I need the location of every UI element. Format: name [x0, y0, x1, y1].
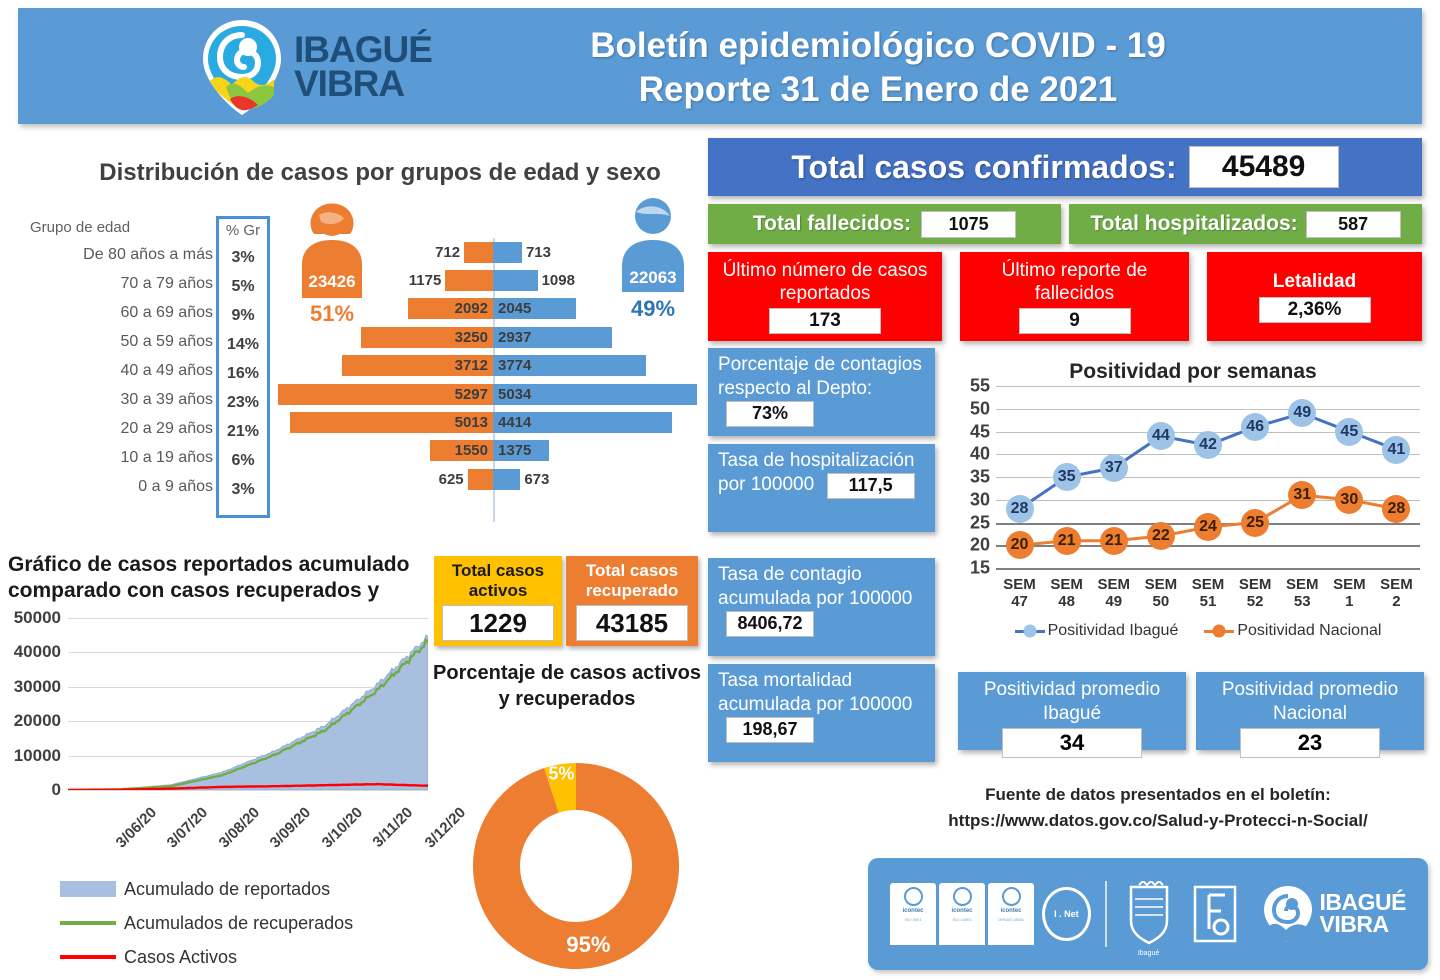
x-axis-tick: SEM51	[1192, 576, 1225, 611]
inet-seal-icon: I . Net	[1042, 887, 1091, 941]
department-contagion-pct-value: 73%	[726, 401, 814, 427]
age-group-percent: 3%	[219, 243, 267, 272]
legend-item: Positividad Nacional	[1204, 622, 1381, 640]
cumulative-series	[68, 618, 428, 790]
y-axis-tick: 30000	[14, 677, 68, 697]
data-point: 44	[1147, 422, 1175, 450]
data-point: 35	[1053, 463, 1081, 491]
female-bar: 3712	[342, 355, 493, 376]
total-deaths-label: Total fallecidos:	[753, 212, 911, 236]
data-point: 25	[1241, 509, 1269, 537]
last-reported-cases-value: 173	[769, 308, 881, 334]
female-bar-value: 5013	[450, 414, 493, 431]
male-bar: 5034	[493, 384, 697, 405]
cumulative-contagion-rate-box: Tasa de contagio acumulada por 100000 84…	[708, 558, 935, 656]
total-active-cases-box: Total casos activos 1229	[434, 556, 562, 646]
donut-slice-label: 5%	[548, 763, 574, 784]
data-point: 37	[1100, 454, 1128, 482]
legend-item: Acumulado de reportados	[60, 872, 440, 906]
total-recovered-cases-box: Total casos recuperado 43185	[566, 556, 698, 646]
y-axis-tick: 20000	[14, 711, 68, 731]
title-line-2: Reporte 31 de Enero de 2021	[488, 68, 1268, 112]
last-reported-cases-label: Último número de casos reportados	[714, 259, 936, 305]
footer-logo-bar: icontecISO 9001icontecISO 14001icontecOH…	[868, 858, 1428, 970]
active-recovered-donut-chart: 95%5%	[466, 760, 688, 972]
age-group-percent: 9%	[219, 301, 267, 330]
male-bar-value: 5034	[493, 386, 536, 403]
male-bar: 713	[493, 242, 522, 263]
pyramid-row: 11751098	[276, 266, 710, 294]
data-point: 31	[1288, 481, 1316, 509]
female-bar-value: 1175	[409, 272, 446, 289]
department-contagion-pct-label: Porcentaje de contagios respecto al Dept…	[718, 354, 922, 399]
pyramid-row: 15501375	[276, 437, 710, 465]
positivity-x-axis: SEM47SEM48SEM49SEM50SEM51SEM52SEM53SEM1S…	[996, 576, 1420, 618]
total-active-cases-label: Total casos activos	[438, 561, 558, 602]
age-group-percent: 14%	[219, 330, 267, 359]
certification-body-name: icontec	[902, 908, 923, 914]
age-group-percent: 23%	[219, 388, 267, 417]
gridline	[68, 790, 428, 791]
age-group-label: De 80 años a más	[30, 240, 215, 269]
data-point: 28	[1382, 495, 1410, 523]
age-group-percent: 5%	[219, 272, 267, 301]
total-recovered-cases-value: 43185	[576, 605, 688, 641]
total-confirmed-value: 45489	[1189, 146, 1339, 188]
cumulative-plot-area: 50000400003000020000100000	[68, 618, 428, 790]
positivity-chart-title: Positividad por semanas	[958, 360, 1428, 384]
total-deaths-box: Total fallecidos: 1075	[708, 204, 1061, 244]
x-axis-tick: SEM53	[1286, 576, 1319, 611]
x-axis-tick: 3/12/20	[421, 804, 468, 851]
hospitalization-rate-box: Tasa de hospitalización por 100000 117,5	[708, 444, 935, 532]
legend-item: Casos Activos	[60, 940, 440, 974]
x-axis-tick: SEM48	[1050, 576, 1083, 611]
certification-card: icontecISO 14001	[939, 883, 985, 945]
last-reported-deaths-label: Último reporte de fallecidos	[966, 259, 1183, 305]
y-axis-tick: 25	[970, 512, 996, 533]
x-axis-tick: 3/11/20	[370, 804, 417, 851]
female-bar-value: 712	[435, 244, 464, 261]
positivity-chart-legend: Positividad IbaguéPositividad Nacional	[978, 622, 1418, 640]
pyramid-row: 50134414	[276, 408, 710, 436]
male-bar-value: 673	[520, 471, 549, 488]
ibague-vibra-pin-icon	[196, 17, 288, 117]
data-point: 45	[1335, 418, 1363, 446]
page-header: IBAGUÉ VIBRA Boletín epidemiológico COVI…	[18, 8, 1422, 124]
female-bar: 1550	[430, 440, 493, 461]
male-bar-value: 713	[522, 244, 551, 261]
positivity-plot-area: 1520253035404550552835374442464945412021…	[996, 386, 1420, 568]
female-bar: 1175	[445, 270, 493, 291]
male-bar: 4414	[493, 412, 672, 433]
age-group-percent: 16%	[219, 359, 267, 388]
avg-positivity-national-value: 23	[1240, 728, 1380, 758]
male-bar: 2937	[493, 327, 612, 348]
legend-item: Acumulados de recuperados	[60, 906, 440, 940]
cumulative-chart-legend: Acumulado de reportadosAcumulados de rec…	[60, 872, 440, 974]
y-axis-tick: 40000	[14, 642, 68, 662]
pyramid-chart-title: Distribución de casos por grupos de edad…	[60, 158, 700, 188]
brand-logo: IBAGUÉ VIBRA	[196, 12, 486, 122]
male-bar: 1098	[493, 270, 538, 291]
certification-card: icontecOHSAS 18001	[988, 883, 1034, 945]
avg-positivity-national-label: Positividad promedio Nacional	[1206, 678, 1414, 726]
male-bar-value: 1375	[493, 442, 536, 459]
page-title: Boletín epidemiológico COVID - 19 Report…	[488, 24, 1268, 112]
footer-brand-text: IBAGUÉ VIBRA	[1320, 892, 1406, 936]
cumulative-contagion-rate-value: 8406,72	[726, 611, 814, 637]
total-recovered-cases-label: Total casos recuperado	[570, 561, 694, 602]
gridline	[996, 568, 1420, 570]
cumulative-x-axis: 3/06/203/07/203/08/203/09/203/10/203/11/…	[68, 800, 428, 880]
certification-body-name: icontec	[1000, 908, 1021, 914]
percent-header: % Gr	[219, 219, 267, 243]
legend-swatch	[1204, 630, 1234, 633]
female-bar-value: 2092	[450, 300, 493, 317]
x-axis-tick: SEM47	[1003, 576, 1036, 611]
avg-positivity-national-box: Positividad promedio Nacional 23	[1196, 672, 1424, 750]
legend-swatch	[60, 955, 116, 959]
legend-label: Casos Activos	[124, 947, 237, 968]
age-group-percent: 3%	[219, 475, 267, 504]
footer-brand-logo: IBAGUÉ VIBRA	[1261, 884, 1406, 944]
cumulative-chart-title: Gráfico de casos reportados acumulado co…	[8, 552, 428, 605]
y-axis-tick: 45	[970, 421, 996, 442]
last-reported-deaths-box: Último reporte de fallecidos 9	[960, 252, 1189, 341]
certification-body-name: icontec	[951, 908, 972, 914]
female-bar-value: 3712	[450, 357, 493, 374]
donut-chart-title: Porcentaje de casos activos y recuperado…	[432, 660, 702, 712]
pyramid-row: 20922045	[276, 295, 710, 323]
legend-swatch	[60, 921, 116, 925]
donut-slice-label: 95%	[566, 932, 610, 958]
certification-seal-icon	[1002, 887, 1021, 906]
x-axis-tick: 3/10/20	[318, 804, 365, 851]
female-bar: 5297	[278, 384, 493, 405]
data-point: 46	[1241, 413, 1269, 441]
source-line-2[interactable]: https://www.datos.gov.co/Salud-y-Protecc…	[880, 808, 1436, 834]
male-bar: 1375	[493, 440, 549, 461]
legend-label: Positividad Ibagué	[1048, 622, 1179, 640]
legend-swatch	[1015, 630, 1045, 633]
title-line-1: Boletín epidemiológico COVID - 19	[488, 24, 1268, 68]
certification-seal-icon	[953, 887, 972, 906]
male-bar: 673	[493, 469, 520, 490]
total-deaths-value: 1075	[921, 211, 1016, 238]
x-axis-tick: SEM52	[1239, 576, 1272, 611]
male-bar-value: 4414	[493, 414, 536, 431]
x-axis-tick: SEM1	[1333, 576, 1366, 611]
avg-positivity-ibague-label: Positividad promedio Ibagué	[968, 678, 1176, 726]
percent-group-column: % Gr 3%5%9%14%16%23%21%6%3%	[216, 216, 270, 518]
lethality-value: 2,36%	[1259, 297, 1371, 323]
total-hospitalized-label: Total hospitalizados:	[1090, 212, 1297, 236]
data-point: 21	[1100, 527, 1128, 555]
area-series	[68, 635, 428, 790]
total-confirmed-cases-box: Total casos confirmados: 45489	[708, 138, 1422, 196]
certification-logos: icontecISO 9001icontecISO 14001icontecOH…	[890, 883, 1037, 945]
cumulative-mortality-rate-value: 198,67	[726, 717, 814, 743]
y-axis-tick: 55	[970, 376, 996, 397]
total-hospitalized-box: Total hospitalizados: 587	[1069, 204, 1422, 244]
inet-label: I . Net	[1054, 909, 1079, 919]
lethality-label: Letalidad	[1273, 270, 1356, 293]
age-group-header: Grupo de edad	[30, 216, 215, 240]
y-axis-tick: 10000	[14, 746, 68, 766]
female-bar: 712	[464, 242, 493, 263]
data-point: 28	[1006, 495, 1034, 523]
last-reported-deaths-value: 9	[1019, 308, 1131, 334]
female-bar-value: 3250	[450, 329, 493, 346]
certification-standard: ISO 9001	[905, 917, 922, 922]
footer-divider	[1105, 881, 1107, 947]
age-group-label: 30 a 39 años	[30, 385, 215, 414]
cumulative-contagion-rate-label: Tasa de contagio acumulada por 100000	[718, 564, 912, 609]
pyramid-row: 712713	[276, 238, 710, 266]
age-group-label: 40 a 49 años	[30, 356, 215, 385]
department-contagion-pct-box: Porcentaje de contagios respecto al Dept…	[708, 348, 935, 436]
y-axis-tick: 35	[970, 467, 996, 488]
certification-seal-icon	[904, 887, 923, 906]
legend-swatch	[60, 881, 116, 897]
pyramid-row: 625673	[276, 465, 710, 493]
total-confirmed-label: Total casos confirmados:	[791, 149, 1176, 186]
pyramid-row: 32502937	[276, 323, 710, 351]
female-bar: 2092	[408, 298, 493, 319]
age-group-percent: 21%	[219, 417, 267, 446]
footer-brand-line-2: VIBRA	[1320, 914, 1406, 936]
total-active-cases-value: 1229	[442, 605, 554, 641]
brand-line-2: VIBRA	[294, 67, 432, 101]
male-bar-value: 2045	[493, 300, 536, 317]
cumulative-mortality-rate-box: Tasa mortalidad acumulada por 100000 198…	[708, 664, 935, 762]
lethality-box: Letalidad 2,36%	[1207, 252, 1422, 341]
shield-caption: Ibagué	[1121, 950, 1177, 957]
pyramid-row: 37123774	[276, 352, 710, 380]
x-axis-tick: SEM50	[1145, 576, 1178, 611]
age-group-label: 50 a 59 años	[30, 327, 215, 356]
female-bar-value: 5297	[450, 386, 493, 403]
data-point: 42	[1194, 431, 1222, 459]
male-bar: 3774	[493, 355, 646, 376]
female-bar: 3250	[361, 327, 493, 348]
age-group-label: 60 a 69 años	[30, 298, 215, 327]
avg-positivity-ibague-box: Positividad promedio Ibagué 34	[958, 672, 1186, 750]
brand-logo-text: IBAGUÉ VIBRA	[294, 33, 432, 101]
age-group-label: 20 a 29 años	[30, 414, 215, 443]
age-group-percent: 6%	[219, 446, 267, 475]
male-bar-value: 1098	[538, 272, 575, 289]
certification-card: icontecISO 9001	[890, 883, 936, 945]
male-bar-value: 3774	[493, 357, 536, 374]
last-reported-cases-box: Último número de casos reportados 173	[708, 252, 942, 341]
pyramid-row: 52975034	[276, 380, 710, 408]
cumulative-cases-chart: 50000400003000020000100000 3/06/203/07/2…	[0, 612, 440, 812]
data-point: 24	[1194, 513, 1222, 541]
certification-standard: ISO 14001	[952, 917, 971, 922]
data-point: 22	[1147, 522, 1175, 550]
y-axis-tick: 0	[52, 780, 68, 800]
avg-positivity-ibague-value: 34	[1002, 728, 1142, 758]
data-point: 30	[1335, 486, 1363, 514]
legend-label: Acumulados de recuperados	[124, 913, 353, 934]
data-point: 20	[1006, 531, 1034, 559]
brand-line-1: IBAGUÉ	[294, 33, 432, 67]
positivity-by-week-chart: Positividad por semanas 1520253035404550…	[958, 358, 1428, 650]
total-hospitalized-value: 587	[1306, 211, 1401, 238]
male-bar: 2045	[493, 298, 576, 319]
hospitalization-rate-value: 117,5	[827, 473, 915, 499]
data-source-note: Fuente de datos presentados en el boletí…	[880, 782, 1436, 833]
male-bar-value: 2937	[493, 329, 536, 346]
data-point: 49	[1288, 399, 1316, 427]
female-bar: 5013	[290, 412, 493, 433]
y-axis-tick: 30	[970, 489, 996, 510]
data-point: 21	[1053, 527, 1081, 555]
age-group-labels: Grupo de edad De 80 años a más70 a 79 añ…	[30, 216, 215, 501]
source-line-1: Fuente de datos presentados en el boletí…	[880, 782, 1436, 808]
x-axis-tick: SEM49	[1098, 576, 1131, 611]
age-group-label: 0 a 9 años	[30, 472, 215, 501]
y-axis-tick: 40	[970, 444, 996, 465]
y-axis-tick: 15	[970, 558, 996, 579]
age-group-label: 10 a 19 años	[30, 443, 215, 472]
x-axis-tick: SEM2	[1380, 576, 1413, 611]
female-bar: 625	[468, 469, 493, 490]
certification-standard: OHSAS 18001	[998, 917, 1024, 922]
y-axis-tick: 50000	[14, 608, 68, 628]
legend-label: Positividad Nacional	[1237, 622, 1381, 640]
secretaria-salud-icon	[1187, 881, 1243, 947]
footer-pin-icon	[1261, 884, 1315, 944]
y-axis-tick: 20	[970, 535, 996, 556]
female-bar-value: 625	[439, 471, 468, 488]
x-axis-tick: 3/08/20	[216, 804, 263, 851]
ibague-coat-of-arms-icon: Ibagué	[1121, 881, 1177, 947]
x-axis-tick: 3/07/20	[164, 804, 211, 851]
x-axis-tick: 3/09/20	[267, 804, 314, 851]
pyramid-bars: 7127131175109820922045325029373712377452…	[276, 238, 710, 522]
female-bar-value: 1550	[450, 442, 493, 459]
age-sex-pyramid-chart: Grupo de edad De 80 años a más70 a 79 añ…	[20, 216, 710, 526]
age-group-label: 70 a 79 años	[30, 269, 215, 298]
legend-item: Positividad Ibagué	[1015, 622, 1179, 640]
data-point: 41	[1382, 436, 1410, 464]
cumulative-mortality-rate-label: Tasa mortalidad acumulada por 100000	[718, 670, 912, 715]
y-axis-tick: 50	[970, 398, 996, 419]
legend-label: Acumulado de reportados	[124, 879, 330, 900]
x-axis-tick: 3/06/20	[113, 804, 160, 851]
